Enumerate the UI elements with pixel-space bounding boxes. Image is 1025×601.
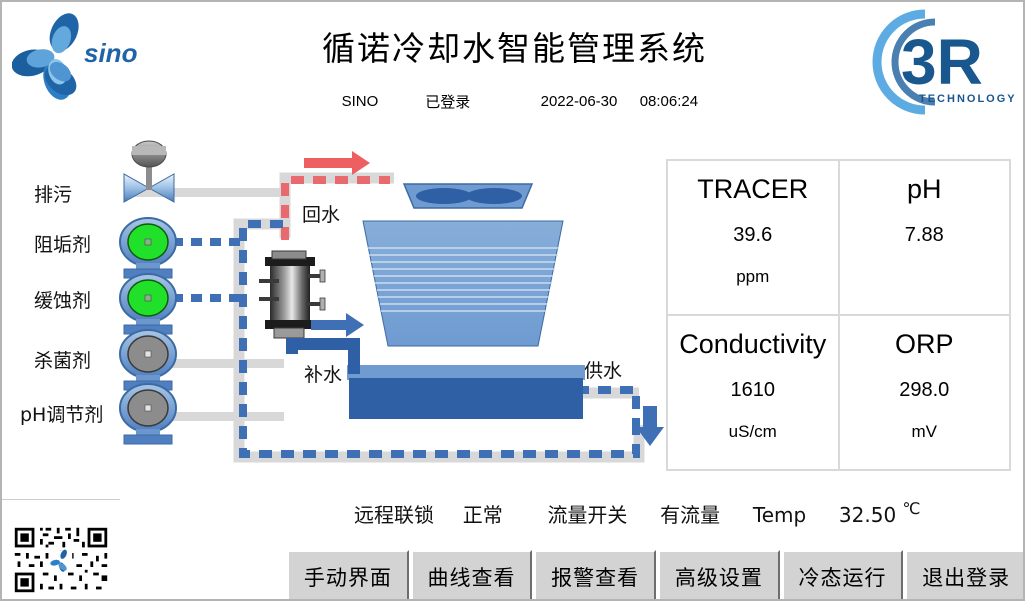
manual-interface-button[interactable]: 手动界面 [287,550,409,601]
label-blowdown: 排污 [34,180,72,207]
system-time: 08:06:24 [640,93,698,110]
supply-flow-arrow [636,406,664,446]
pipe-casing [239,178,639,457]
alarm-view-button[interactable]: 报警查看 [534,550,656,601]
logout-button[interactable]: 退出登录 [905,550,1025,601]
remote-interlock-value: 正常 [463,499,503,528]
readout-value: 298.0 [899,379,949,402]
readout-tracer[interactable]: TRACER 39.6 ppm [667,160,839,315]
label-makeup-water: 补水 [304,360,342,387]
readout-value: 7.88 [905,224,944,247]
readout-value: 39.6 [733,224,772,247]
readout-value: 1610 [731,379,776,402]
makeup-flow-arrow [311,313,364,337]
label-return-water: 回水 [302,200,340,227]
trend-curve-button[interactable]: 曲线查看 [411,550,533,601]
advanced-settings-button[interactable]: 高级设置 [658,550,780,601]
label-ph-adjuster: pH调节剂 [20,400,103,427]
readout-conductivity[interactable]: Conductivity 1610 uS/cm [667,315,839,470]
label-supply-water: 供水 [584,356,622,383]
3r-tagline: TECHNOLOGY [919,93,1017,105]
readouts-panel: TRACER 39.6 ppm pH 7.88 Conductivity 161… [666,159,1011,471]
tower-fill-louvers [368,248,559,311]
label-antiscalant: 阻垢剂 [34,230,91,257]
hmi-window: sino 循诺冷却水智能管理系统 SINO 已登录 2022-06-30 08:… [0,0,1025,601]
3r-technology-logo: 3R TECHNOLOGY [857,6,1017,118]
user-name: SINO [331,93,389,110]
readout-unit: mV [912,422,938,442]
remote-interlock-label: 远程联锁 [354,499,434,528]
readout-name: TRACER [697,175,808,205]
cold-start-button[interactable]: 冷态运行 [782,550,904,601]
flow-switch-label: 流量开关 [547,499,627,528]
action-button-bar: 手动界面 曲线查看 报警查看 高级设置 冷态运行 退出登录 [287,550,1025,601]
dosing-pump-biocide[interactable] [120,330,176,390]
system-date: 2022-06-30 [541,93,618,110]
flow-switch-value: 有流量 [660,499,720,528]
3r-wordmark: 3R [901,26,983,98]
readout-unit: uS/cm [729,422,777,442]
temp-value: 32.50 [839,503,896,527]
idle-pipes [128,188,284,421]
dosing-pump-corrosion-inhibitor[interactable] [120,274,176,334]
return-flow-arrow [304,151,370,175]
readout-name: Conductivity [679,330,826,360]
temp-unit: ℃ [903,499,921,518]
label-biocide: 杀菌剂 [34,346,91,373]
qr-divider [2,499,120,500]
login-status: 已登录 [425,91,470,112]
sensor-vessel[interactable] [259,251,325,338]
readout-orp[interactable]: ORP 298.0 mV [839,315,1011,470]
dosing-pump-ph-adjuster[interactable] [120,384,176,444]
supply-water-pipe [243,224,636,454]
readout-unit: ppm [736,267,769,287]
temp-label: Temp [753,503,806,527]
label-corrosion-inhibitor: 缓蚀剂 [34,286,91,313]
readout-ph[interactable]: pH 7.88 [839,160,1011,315]
readout-name: pH [907,175,942,205]
chemical-feed-lines [172,242,242,298]
qr-code [12,525,110,595]
status-bar: 远程联锁 正常 流量开关 有流量 Temp 32.50 ℃ [354,499,921,528]
readout-name: ORP [895,330,954,360]
blowdown-valve[interactable] [124,141,174,202]
dosing-pump-antiscalant[interactable] [120,218,176,278]
